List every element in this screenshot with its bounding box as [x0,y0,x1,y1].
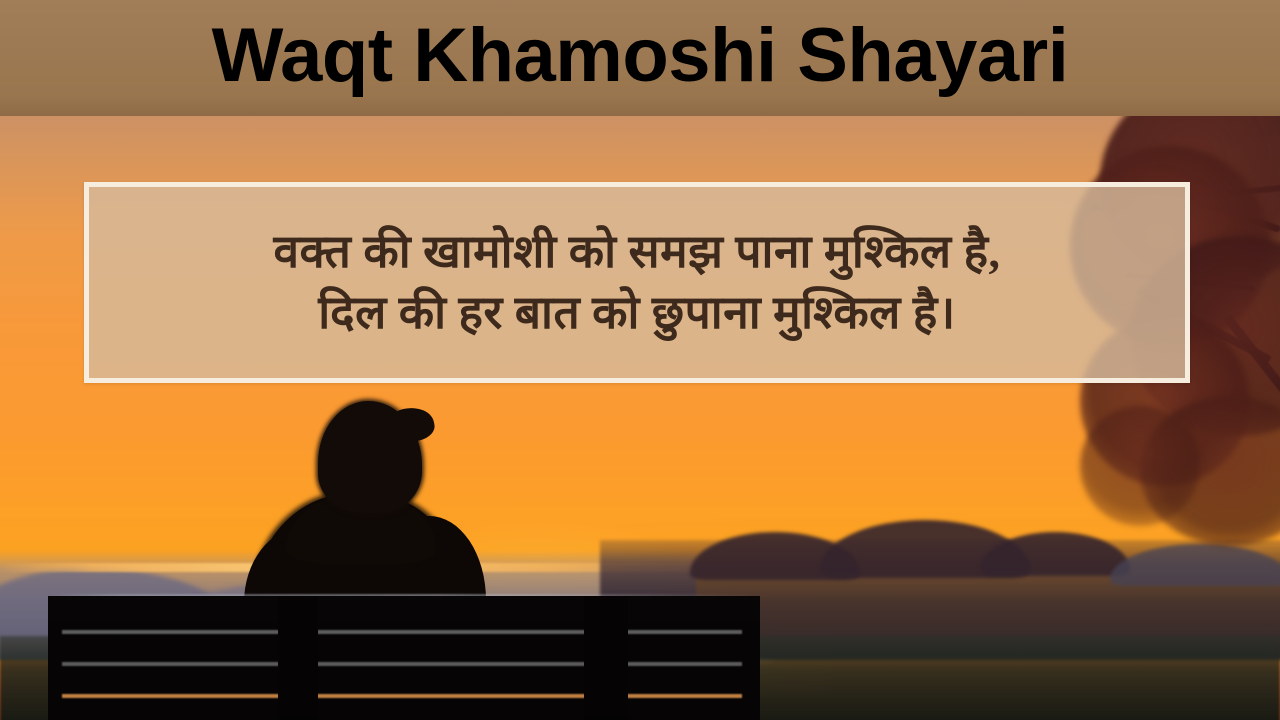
bench-post-right [584,596,628,720]
shayari-quote-card: वक्त की खामोशी को समझ पाना मुश्किल है, द… [84,182,1190,383]
title-banner: Waqt Khamoshi Shayari [0,0,1280,116]
shayari-image-canvas: वक्त की खामोशी को समझ पाना मुश्किल है, द… [0,0,1280,720]
shayari-line-1: वक्त की खामोशी को समझ पाना मुश्किल है, [273,222,1000,283]
bench-post-left [278,596,318,720]
bench-slat-gap-2 [62,662,742,666]
shayari-line-2: दिल की हर बात को छुपाना मुश्किल है। [318,283,955,344]
bench-slat-gap-1 [62,630,742,634]
bench-top-rail [48,596,760,622]
bench-slat-gap-3 [62,694,742,698]
page-title: Waqt Khamoshi Shayari [212,18,1069,94]
